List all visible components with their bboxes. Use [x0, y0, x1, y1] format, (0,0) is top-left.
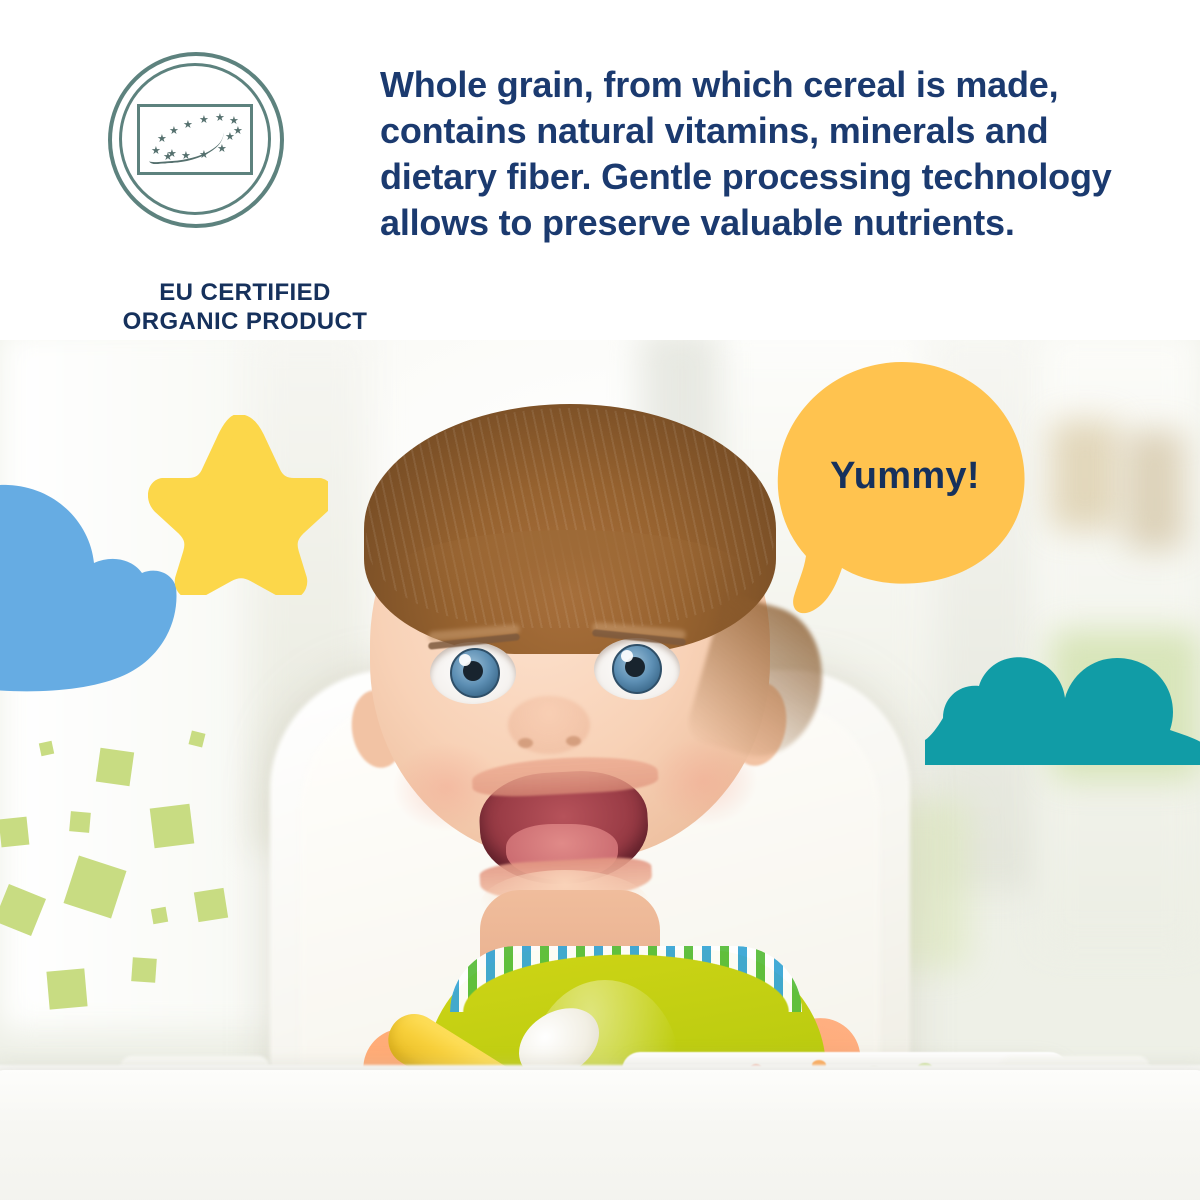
- baby-eye-highlight-right: [621, 650, 633, 662]
- baby-nostril-left: [518, 738, 533, 748]
- confetti-square: [46, 968, 87, 1009]
- baby-eye-highlight-left: [459, 654, 471, 666]
- background-object: [1050, 420, 1120, 530]
- logo-star: ★: [151, 146, 161, 157]
- speech-bubble-text: Yummy!: [790, 455, 1020, 498]
- high-chair-tray: [0, 1070, 1200, 1200]
- confetti-square: [151, 907, 168, 924]
- logo-star: ★: [181, 151, 191, 162]
- logo-star: ★: [183, 120, 193, 131]
- confetti-square: [150, 804, 195, 849]
- eu-certified-caption: EU CERTIFIED ORGANIC PRODUCT: [80, 278, 410, 337]
- yellow-star-shape: [148, 415, 328, 595]
- confetti-square: [0, 817, 29, 848]
- logo-star: ★: [199, 115, 209, 126]
- confetti-square: [194, 888, 228, 922]
- promo-banner: ★★★★★★★★★★★★★★ EU CERTIFIED ORGANIC PROD…: [0, 0, 1200, 1200]
- teal-wave-shape: [925, 640, 1200, 765]
- green-confetti: [0, 710, 290, 1030]
- confetti-square: [96, 748, 134, 786]
- confetti-square: [39, 741, 54, 756]
- logo-star: ★: [167, 149, 177, 160]
- baby-bib-trim: [450, 946, 802, 1012]
- confetti-square: [131, 957, 157, 983]
- top-white-band: ★★★★★★★★★★★★★★ EU CERTIFIED ORGANIC PROD…: [0, 0, 1200, 340]
- baby-hair-fringe: [390, 530, 750, 620]
- baby-cheek-right: [648, 736, 758, 826]
- confetti-square: [0, 884, 46, 936]
- baby-nostril-right: [566, 736, 581, 746]
- page-headline: Whole grain, from which cereal is made, …: [380, 62, 1140, 246]
- logo-star: ★: [169, 126, 179, 137]
- eu-organic-leaf-logo-icon: ★★★★★★★★★★★★★★: [108, 52, 284, 228]
- logo-star-arc: ★★★★★★★★★★★★★★: [137, 104, 247, 169]
- confetti-square: [189, 731, 206, 748]
- confetti-square: [63, 855, 126, 918]
- logo-star: ★: [233, 126, 243, 137]
- confetti-square: [69, 811, 91, 833]
- logo-star: ★: [215, 113, 225, 124]
- logo-star: ★: [157, 134, 167, 145]
- logo-star: ★: [217, 144, 227, 155]
- eu-caption-line-2: ORGANIC PRODUCT: [80, 307, 410, 336]
- logo-star: ★: [199, 150, 209, 161]
- eu-caption-line-1: EU CERTIFIED: [80, 278, 410, 307]
- background-object: [1125, 430, 1185, 550]
